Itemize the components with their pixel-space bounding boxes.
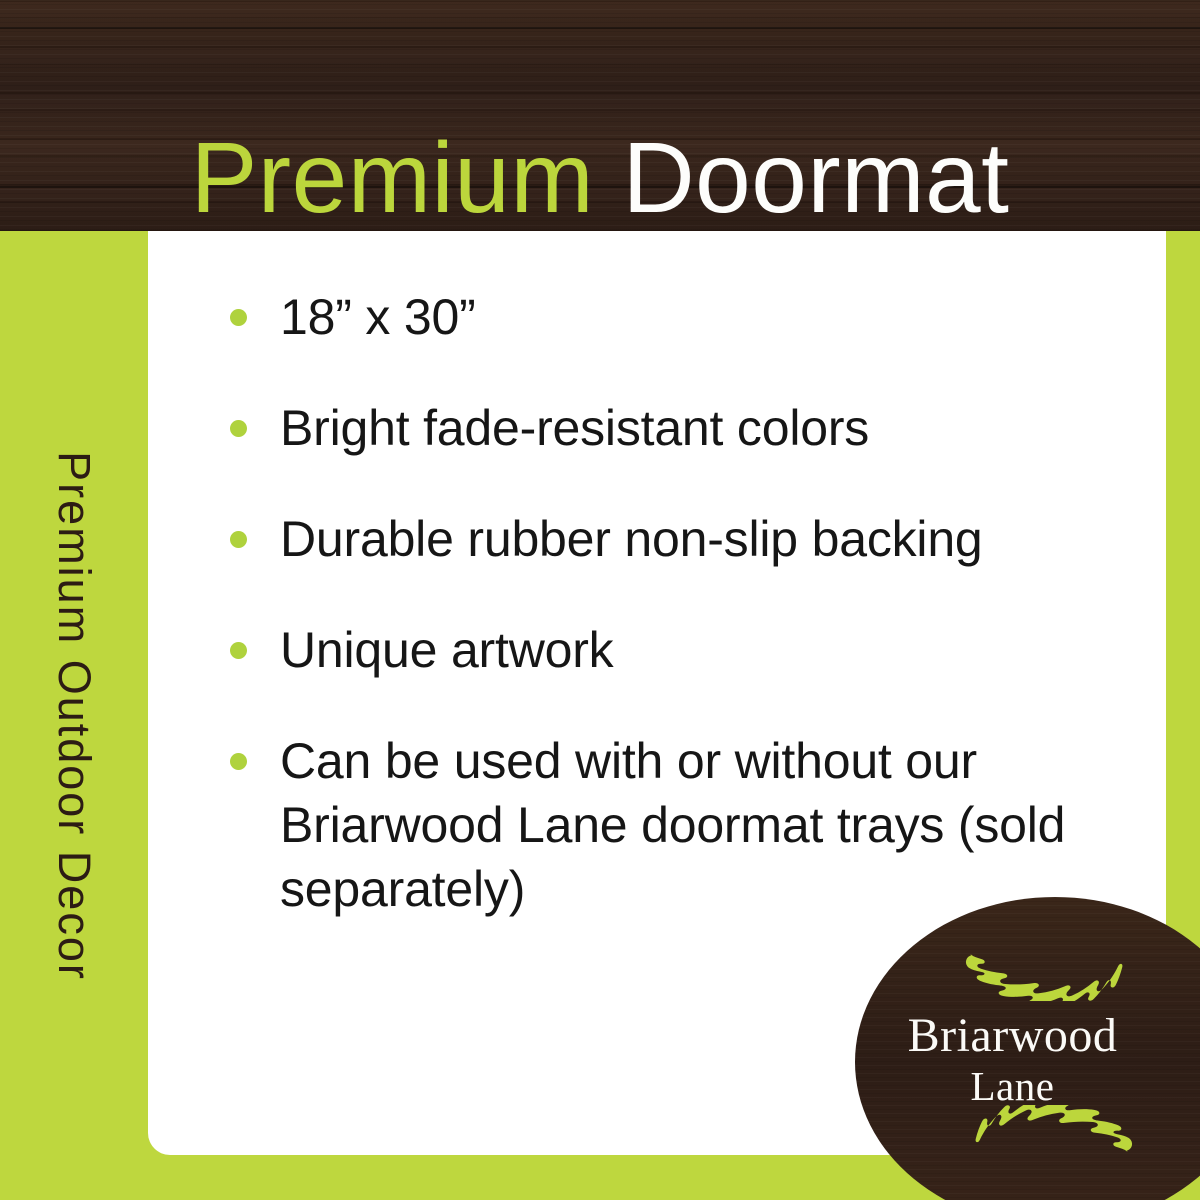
bullet-dot-icon — [230, 753, 247, 770]
feature-list: 18” x 30” Bright fade-resistant colors D… — [228, 285, 1108, 921]
list-item-label: Can be used with or without our Briarwoo… — [280, 729, 1108, 921]
page-title-accent: Premium — [191, 122, 595, 234]
product-feature-poster: Premium Doormat Premium Outdoor Decor 18… — [0, 0, 1200, 1200]
brand-name-line1: Briarwood — [855, 1009, 1170, 1063]
bullet-dot-icon — [230, 642, 247, 659]
list-item: Bright fade-resistant colors — [228, 396, 1108, 460]
sidebar-vertical-label: Premium Outdoor Decor — [48, 451, 100, 981]
oak-leaf-flourish-top-icon — [965, 945, 1135, 1001]
oak-leaf-flourish-bottom-icon — [963, 1105, 1133, 1161]
bullet-dot-icon — [230, 531, 247, 548]
list-item: 18” x 30” — [228, 285, 1108, 349]
list-item-label: Bright fade-resistant colors — [280, 396, 1108, 460]
wood-plank-seam-top — [0, 27, 1200, 29]
bullet-dot-icon — [230, 309, 247, 326]
sidebar-vertical-strip: Premium Outdoor Decor — [0, 231, 148, 1200]
list-item-label: Unique artwork — [280, 618, 1108, 682]
bullet-dot-icon — [230, 420, 247, 437]
list-item: Unique artwork — [228, 618, 1108, 682]
brand-wordmark: Briarwood Lane — [855, 1009, 1170, 1109]
brand-name-line2: Lane — [855, 1063, 1170, 1109]
page-title-main: Doormat — [622, 122, 1009, 234]
brand-logo-badge: Briarwood Lane — [855, 897, 1200, 1200]
list-item-label: Durable rubber non-slip backing — [280, 507, 1108, 571]
list-item: Can be used with or without our Briarwoo… — [228, 729, 1108, 921]
brand-logo-inner: Briarwood Lane — [855, 897, 1170, 1197]
page-title: Premium Doormat — [0, 119, 1200, 237]
list-item: Durable rubber non-slip backing — [228, 507, 1108, 571]
list-item-label: 18” x 30” — [280, 285, 1108, 349]
